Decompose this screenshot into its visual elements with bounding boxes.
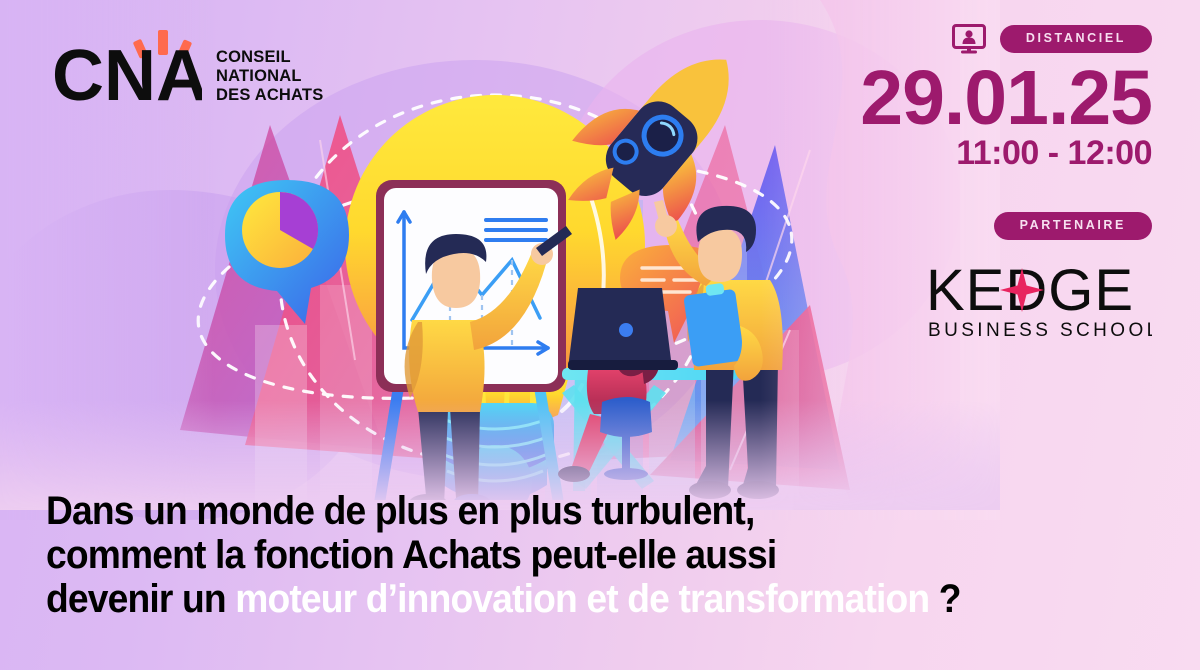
cna-line-3: DES ACHATS	[216, 86, 323, 105]
webinar-banner: CNA CONSEIL NATIONAL DES ACHATS DISTANCI…	[0, 0, 1200, 670]
cna-line-1: CONSEIL	[216, 48, 323, 67]
event-date: 29.01.25	[832, 58, 1152, 138]
headline-line-3-prefix: devenir un	[46, 577, 235, 621]
headline-line-3-suffix: ?	[929, 577, 960, 621]
headline-line-2: comment la fonction Achats peut-elle aus…	[46, 533, 1032, 577]
kedge-logo-mark: KEDGE BUSINESS SCHOOL	[924, 256, 1152, 342]
cna-letters: CNA	[52, 36, 202, 108]
headline-line-1: Dans un monde de plus en plus turbulent,	[46, 489, 1032, 533]
webinar-monitor-icon	[952, 24, 986, 54]
partner-block: PARTENAIRE KEDGE BUSINESS SCHOOL	[832, 212, 1152, 342]
cna-logo: CNA CONSEIL NATIONAL DES ACHATS	[52, 28, 323, 108]
headline-highlight: moteur d’innovation et de transformation	[235, 577, 929, 621]
format-badge: DISTANCIEL	[1000, 25, 1152, 53]
cna-monogram: CNA	[52, 28, 202, 108]
format-badge-row: DISTANCIEL	[832, 24, 1152, 54]
kedge-subtitle: BUSINESS SCHOOL	[928, 320, 1152, 341]
event-info-block: DISTANCIEL 29.01.25 11:00 - 12:00	[832, 24, 1152, 172]
cna-wordmark: CONSEIL NATIONAL DES ACHATS	[216, 48, 323, 108]
headline: Dans un monde de plus en plus turbulent,…	[46, 489, 1032, 621]
partner-badge: PARTENAIRE	[994, 212, 1152, 240]
kedge-logo: KEDGE BUSINESS SCHOOL	[832, 256, 1152, 342]
cna-line-2: NATIONAL	[216, 67, 323, 86]
headline-line-3: devenir un moteur d’innovation et de tra…	[46, 577, 1032, 621]
